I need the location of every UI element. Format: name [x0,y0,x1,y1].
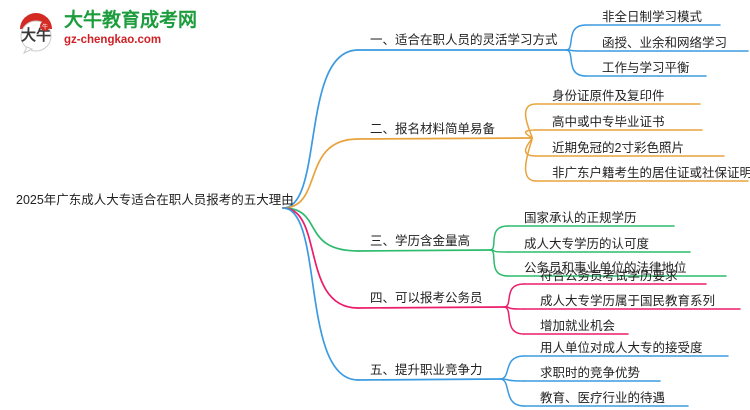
leaf-label-4-1[interactable]: 符合公务员考试学历要求 [540,268,678,283]
mindmap-labels: 2025年广东成人大专适合在职人员报考的五大理由一、适合在职人员的灵活学习方式非… [16,9,750,405]
leaf-label-2-4[interactable]: 非广东户籍考生的居住证或社保证明 [552,165,750,180]
leaf-label-4-2[interactable]: 成人大专学历属于国民教育系列 [540,293,715,308]
leaf-label-5-1[interactable]: 用人单位对成人大专的接受度 [540,340,703,355]
leaf-label-2-1[interactable]: 身份证原件及复印件 [552,88,665,103]
branch-label-5[interactable]: 五、提升职业竞争力 [370,362,483,377]
leaf-label-4-3[interactable]: 增加就业机会 [540,318,616,333]
branch-label-2[interactable]: 二、报名材料简单易备 [370,121,496,136]
leaf-label-1-3[interactable]: 工作与学习平衡 [602,60,690,75]
leaf-label-3-2[interactable]: 成人大专学历的认可度 [524,236,650,251]
branch-label-1[interactable]: 一、适合在职人员的灵活学习方式 [370,32,558,47]
root-node-label: 2025年广东成人大专适合在职人员报考的五大理由 [16,192,294,207]
branch-label-4[interactable]: 四、可以报考公务员 [370,290,483,305]
leaf-label-2-2[interactable]: 高中或中专毕业证书 [552,114,665,129]
leaf-label-5-3[interactable]: 教育、医疗行业的待遇 [540,390,665,405]
leaf-label-2-3[interactable]: 近期免冠的2寸彩色照片 [552,140,684,155]
leaf-label-1-2[interactable]: 函授、业余和网络学习 [602,35,727,50]
leaf-label-1-1[interactable]: 非全日制学习模式 [602,9,703,24]
leaf-label-3-1[interactable]: 国家承认的正规学历 [524,210,637,225]
branch-label-3[interactable]: 三、学历含金量高 [370,233,470,248]
leaf-label-5-2[interactable]: 求职时的竞争优势 [540,365,641,380]
mindmap-canvas: 2025年广东成人大专适合在职人员报考的五大理由一、适合在职人员的灵活学习方式非… [0,0,750,410]
